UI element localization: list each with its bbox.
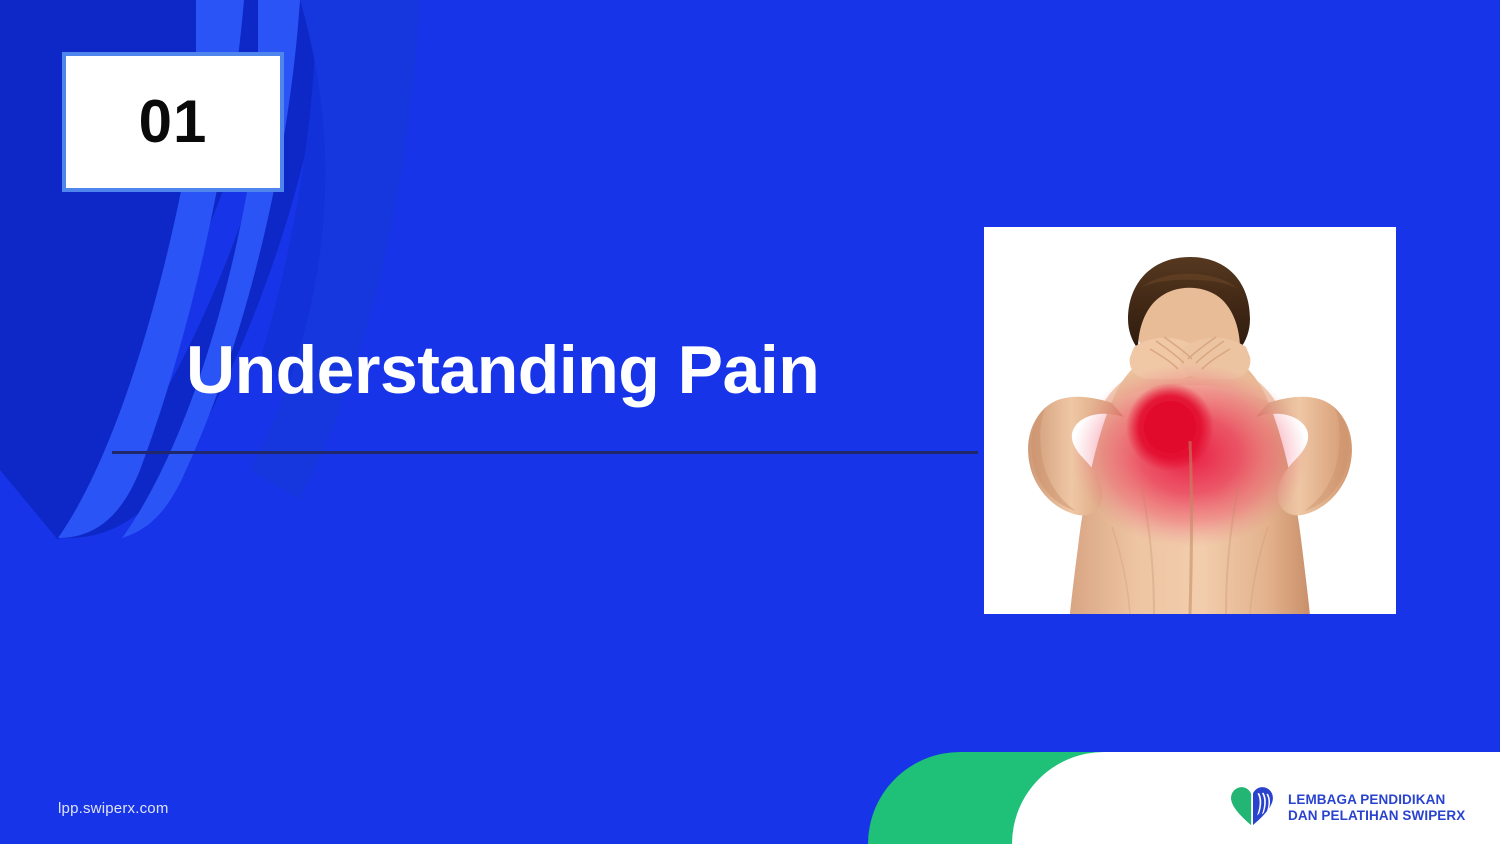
heart-book-logo-icon (1226, 782, 1278, 834)
brand-logo-text: LEMBAGA PENDIDIKAN DAN PELATIHAN SWIPERX (1288, 792, 1465, 825)
brand-line-2: DAN PELATIHAN SWIPERX (1288, 808, 1465, 824)
page-title: Understanding Pain (186, 336, 819, 404)
title-divider (112, 451, 978, 454)
pain-illustration (984, 227, 1396, 614)
brand-line-1: LEMBAGA PENDIDIKAN (1288, 792, 1465, 808)
site-url: lpp.swiperx.com (58, 800, 169, 817)
slide-canvas: 01 Understanding Pain (0, 0, 1500, 844)
section-number-badge: 01 (62, 52, 284, 192)
logo-heart-green (1231, 787, 1251, 825)
section-number: 01 (139, 92, 208, 152)
spine-line (1190, 441, 1192, 614)
logo-spine (1251, 791, 1253, 826)
brand-logo: LEMBAGA PENDIDIKAN DAN PELATIHAN SWIPERX (1226, 782, 1465, 834)
pain-illustration-card (984, 227, 1396, 614)
logo-heart-blue (1253, 787, 1273, 825)
